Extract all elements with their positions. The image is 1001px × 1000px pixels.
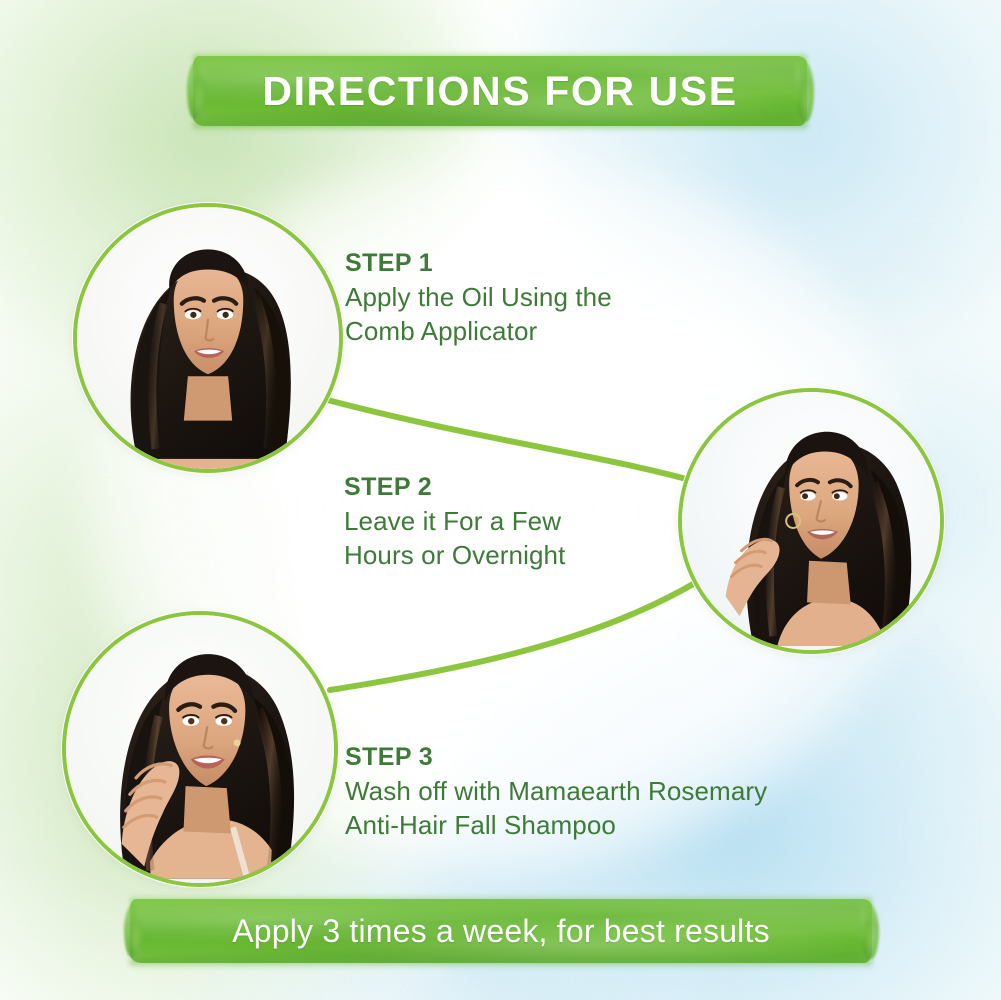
step-2-label: STEP 2 — [344, 474, 764, 500]
step-3-text-block: STEP 3 Wash off with Mamaearth Rosemary … — [345, 744, 905, 843]
footer-banner: Apply 3 times a week, for best results — [130, 899, 872, 963]
connector-step2-to-step3 — [330, 580, 700, 690]
directions-for-use-poster: DIRECTIONS FOR USE — [0, 0, 1001, 1000]
footer-note: Apply 3 times a week, for best results — [232, 913, 770, 950]
brush-fray-bottom — [193, 122, 807, 131]
step-3-photo — [66, 615, 334, 883]
step-3-description-line-2: Anti-Hair Fall Shampoo — [345, 809, 905, 843]
page-title: DIRECTIONS FOR USE — [262, 68, 737, 115]
brush-fray-bottom — [130, 959, 872, 968]
step-1-description-line-1: Apply the Oil Using the — [345, 281, 765, 315]
step-3-label: STEP 3 — [345, 744, 905, 770]
connector-step1-to-step2 — [320, 398, 690, 480]
step-2-text-block: STEP 2 Leave it For a Few Hours or Overn… — [344, 474, 764, 573]
step-1-photo — [77, 207, 339, 469]
step-3-description-line-1: Wash off with Mamaearth Rosemary — [345, 775, 905, 809]
brush-fray-top — [130, 895, 872, 904]
step-3-photo-circle — [62, 611, 338, 887]
step-2-description-line-1: Leave it For a Few — [344, 505, 764, 539]
step-1-label: STEP 1 — [345, 250, 765, 276]
step-1-description-line-2: Comb Applicator — [345, 315, 765, 349]
header-banner: DIRECTIONS FOR USE — [193, 56, 807, 126]
step-2-description-line-2: Hours or Overnight — [344, 539, 764, 573]
step-1-text-block: STEP 1 Apply the Oil Using the Comb Appl… — [345, 250, 765, 349]
step-1-photo-circle — [73, 203, 343, 473]
brush-fray-top — [193, 52, 807, 61]
